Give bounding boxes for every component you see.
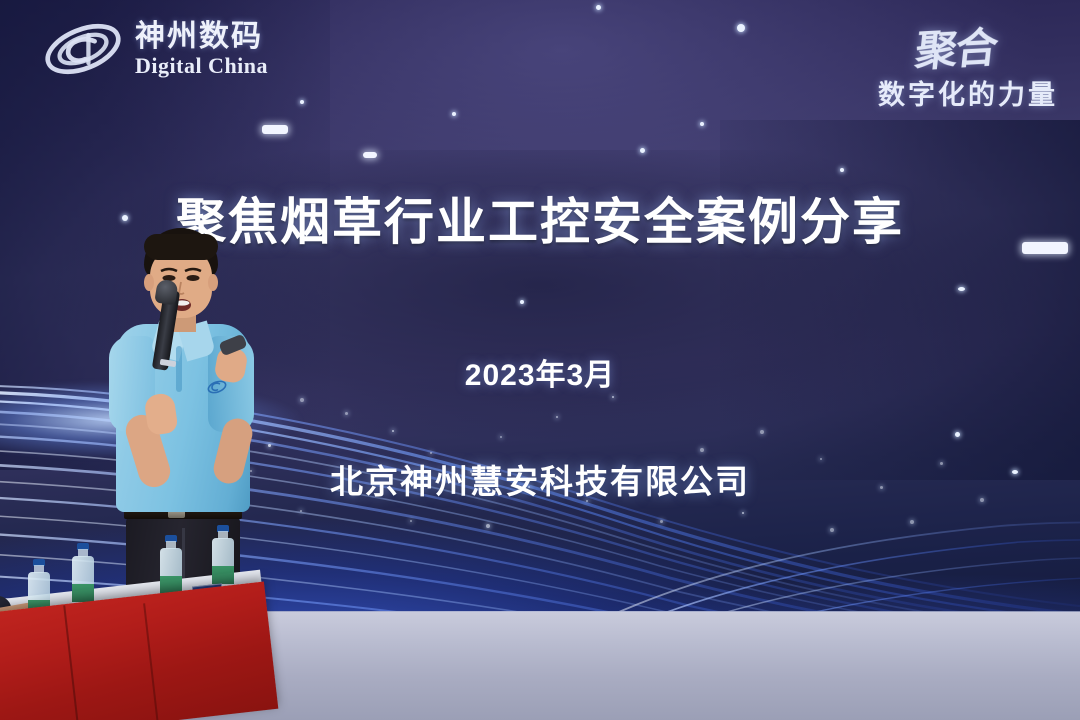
conference-stage-scene: 神州数码 Digital China 聚合 数字化的力量 聚焦烟草行业工控安全案… (0, 0, 1080, 720)
digital-china-swirl-logo-icon (40, 18, 126, 80)
polo-placket (176, 346, 182, 392)
bottle-label (72, 584, 94, 602)
bottle-label (212, 566, 234, 584)
digital-china-wordmark: 神州数码 Digital China (135, 22, 268, 77)
slogan-subtitle: 数字化的力量 (878, 73, 1058, 112)
bottle-body (212, 538, 234, 584)
foreground-panel-table (0, 545, 262, 720)
presenter-hair-front (144, 234, 218, 260)
brand-name-en: Digital China (135, 55, 268, 77)
event-slogan-logo: 聚合 数字化的力量 (878, 16, 1058, 112)
bottle-body (160, 548, 182, 594)
brand-name-cn: 神州数码 (135, 22, 268, 52)
slogan-calligraphy: 聚合 (912, 14, 999, 79)
digital-china-logo: 神州数码 Digital China (40, 18, 268, 80)
bottle-body (72, 556, 94, 602)
